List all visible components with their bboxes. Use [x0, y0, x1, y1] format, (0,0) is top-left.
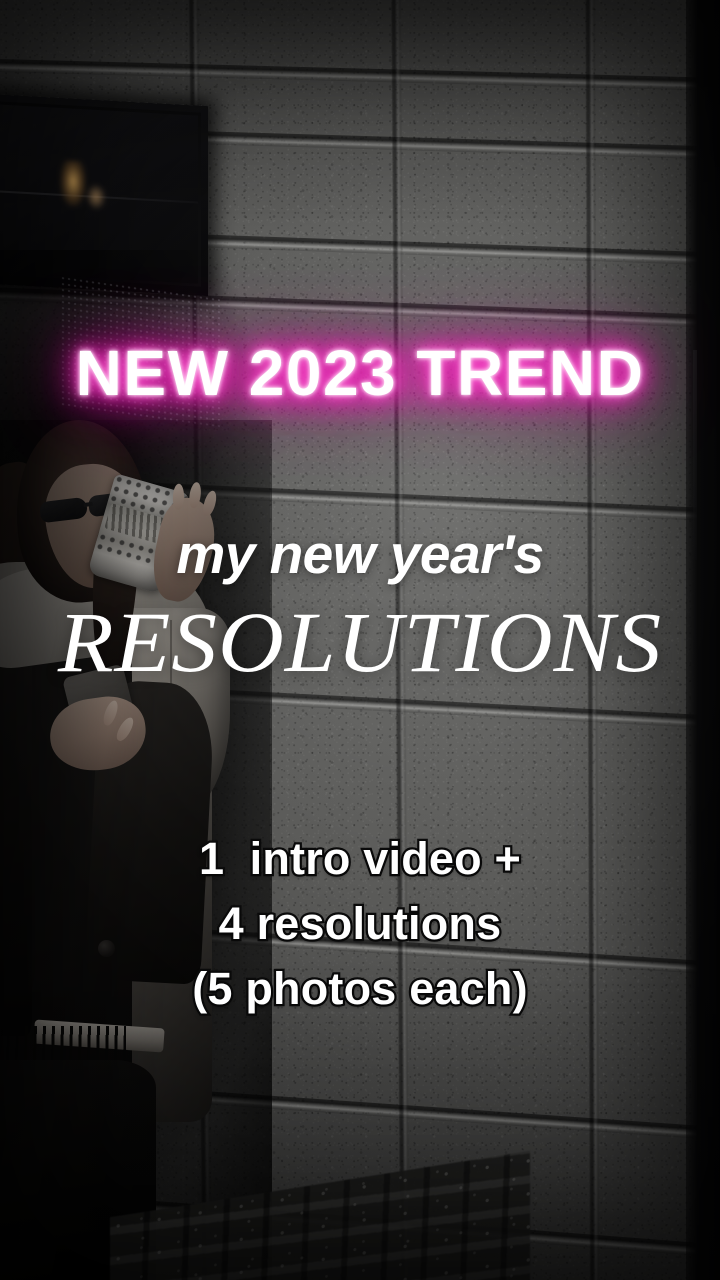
text-overlay-layer: NEW 2023 TREND my new year's RESOLUTIONS… [0, 0, 720, 1280]
caption-line: 1 intro video + [0, 826, 720, 891]
promo-screenshot: NEW 2023 TREND my new year's RESOLUTIONS… [0, 0, 720, 1280]
script-subheadline: my new year's [176, 522, 543, 586]
caption-line: (5 photos each) [0, 956, 720, 1021]
caption-block: 1 intro video + 4 resolutions (5 photos … [0, 826, 720, 1021]
neon-headline-row: NEW 2023 TREND [0, 336, 720, 410]
serif-title: RESOLUTIONS [58, 592, 662, 692]
script-line-row: my new year's [0, 522, 720, 586]
serif-line-row: RESOLUTIONS [0, 592, 720, 692]
neon-headline: NEW 2023 TREND [70, 336, 651, 410]
caption-line: 4 resolutions [0, 891, 720, 956]
